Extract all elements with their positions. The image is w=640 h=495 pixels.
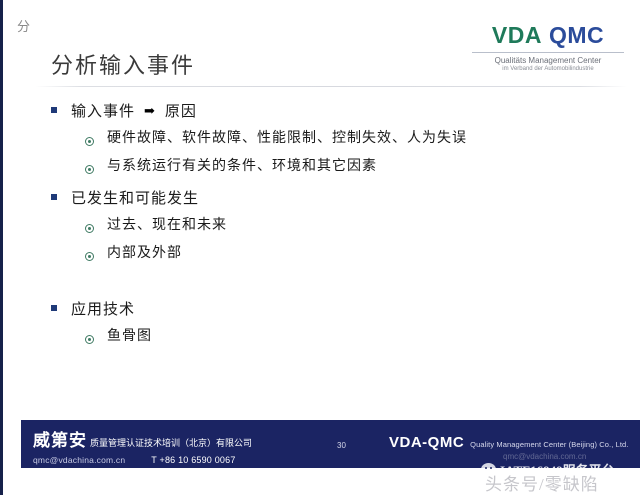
footer-phone: T +86 10 6590 0067: [151, 455, 235, 465]
bullet-level1-text: 输入事件➡原因: [71, 100, 197, 121]
bullet-level2-text: 内部及外部: [107, 242, 182, 262]
bullet-level2: 与系统运行有关的条件、环境和其它因素: [85, 155, 611, 175]
bullet-group-1: 输入事件➡原因 硬件故障、软件故障、性能限制、控制失效、人为失误 与系统运行有关…: [51, 100, 611, 175]
circle-dot-bullet-icon: [85, 224, 94, 233]
circle-dot-bullet-icon: [85, 252, 94, 261]
circle-dot-bullet-icon: [85, 165, 94, 174]
square-bullet-icon: [51, 194, 57, 200]
bullet-level2: 内部及外部: [85, 242, 611, 262]
page-title: 分析输入事件: [51, 48, 195, 80]
bullet-level2: 过去、现在和未来: [85, 214, 611, 234]
corner-mark: 分: [17, 16, 30, 35]
bullet-level2-text: 与系统运行有关的条件、环境和其它因素: [107, 155, 377, 175]
bullet-level1: 已发生和可能发生: [51, 187, 611, 208]
footer-brand-description: 质量管理认证技术培训（北京）有限公司: [90, 436, 252, 449]
bullet-level2-text: 过去、现在和未来: [107, 214, 227, 234]
bullet-level2: 鱼骨图: [85, 325, 611, 345]
footer-email[interactable]: qmc@vdachina.com.cn: [33, 455, 125, 465]
slide-body: 输入事件➡原因 硬件故障、软件故障、性能限制、控制失效、人为失误 与系统运行有关…: [51, 100, 611, 357]
logo-divider: [472, 52, 624, 53]
square-bullet-icon: [51, 107, 57, 113]
bullet-group-2: 已发生和可能发生 过去、现在和未来 内部及外部: [51, 187, 611, 262]
bullet-level1-text: 应用技术: [71, 298, 135, 319]
footer-brand-name: 威第安: [33, 426, 87, 451]
logo-qmc-text: QMC: [549, 22, 604, 48]
footer-vdaqmc-name: VDA-QMC: [389, 434, 464, 451]
bullet-level2-text: 鱼骨图: [107, 325, 152, 345]
footer-company-block: 威第安 质量管理认证技术培训（北京）有限公司 qmc@vdachina.com.…: [33, 426, 252, 465]
bullet-level1: 输入事件➡原因: [51, 100, 611, 121]
bullet-level1-text: 已发生和可能发生: [71, 187, 199, 208]
vda-qmc-logo: VDAQMC Qualitäts Management Center im Ve…: [472, 24, 624, 74]
arrow-right-icon: ➡: [144, 104, 156, 117]
bullet-level2: 硬件故障、软件故障、性能限制、控制失效、人为失误: [85, 127, 611, 147]
page-number: 30: [337, 441, 346, 450]
bullet-heading-1: 输入事件: [71, 104, 135, 120]
bullet-group-3: 应用技术 鱼骨图: [51, 298, 611, 345]
square-bullet-icon: [51, 305, 57, 311]
footer-contact-row: qmc@vdachina.com.cn T +86 10 6590 0067: [33, 455, 252, 465]
logo-subtitle-line1: Qualitäts Management Center: [472, 56, 624, 66]
bullet-level2-text: 硬件故障、软件故障、性能限制、控制失效、人为失误: [107, 127, 467, 147]
bullet-heading-tail-1: 原因: [165, 104, 197, 120]
circle-dot-bullet-icon: [85, 137, 94, 146]
watermark-toutiao-text: 头条号/零缺陷: [485, 470, 599, 495]
title-divider: [35, 86, 627, 87]
logo-subtitle-line2: im Verband der Automobilindustrie: [472, 66, 624, 74]
bullet-level1: 应用技术: [51, 298, 611, 319]
slide-canvas: 分 VDAQMC Qualitäts Management Center im …: [0, 0, 640, 495]
logo-wordmark: VDAQMC: [472, 24, 624, 47]
footer-vdaqmc-block: VDA-QMC Quality Management Center (Beiji…: [389, 434, 629, 451]
logo-vda-text: VDA: [492, 22, 542, 48]
content-spacer: [51, 274, 611, 298]
slide-footer: 威第安 质量管理认证技术培训（北京）有限公司 qmc@vdachina.com.…: [21, 420, 640, 468]
footer-vdaqmc-subtitle: Quality Management Center (Beijing) Co.,…: [470, 440, 628, 449]
footer-brand-row: 威第安 质量管理认证技术培训（北京）有限公司: [33, 426, 252, 451]
circle-dot-bullet-icon: [85, 335, 94, 344]
